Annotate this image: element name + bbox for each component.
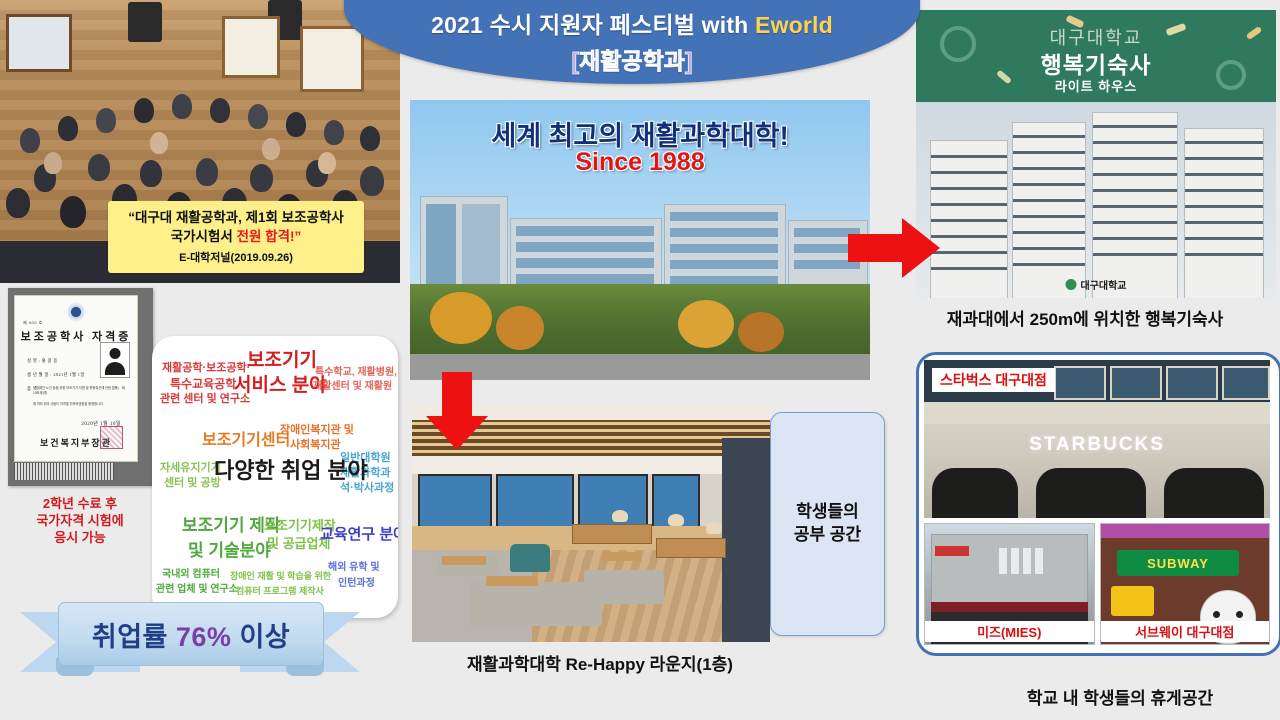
university-logo-text: 대구대학교 — [1081, 277, 1127, 292]
word-cloud-item: 재활센터 및 재활원 — [313, 381, 392, 393]
campus-glass — [516, 274, 654, 284]
word-cloud-item: 인턴과정 — [338, 578, 375, 590]
word-cloud-item: 교육연구 분야 — [320, 526, 398, 544]
campus-glass — [670, 260, 778, 269]
title-line-1: 2021 수시 지원자 페스티벌 with Eworld — [344, 6, 920, 40]
mies-awning — [931, 602, 1088, 612]
ribbon-body: 취업률 76% 이상 — [58, 602, 324, 666]
amenities-row: 미즈(MIES) SUBWAY 서브웨이 대구대점 — [924, 523, 1270, 645]
lounge-lamp — [706, 522, 722, 534]
starbucks-window — [1054, 366, 1106, 400]
lounge-window — [418, 474, 492, 530]
study-space-text: 학생들의 공부 공간 — [794, 501, 861, 547]
dormitory-sky: 대구대학교 — [916, 102, 1276, 298]
ribbon-percent: 76% — [176, 622, 232, 652]
lounge-armchair — [510, 544, 550, 572]
campus-glass — [670, 228, 778, 237]
ribbon-prefix: 취업률 — [92, 622, 176, 652]
campus-glass — [670, 212, 778, 221]
dormitory-tower — [1012, 122, 1086, 298]
mies-sign — [935, 546, 969, 556]
title-highlight-text: Eworld — [755, 12, 833, 38]
mies-window — [1035, 548, 1043, 574]
quote-source: E-대학저널(2019.09.26) — [179, 249, 293, 265]
quote-line-1: “대구대 재활공학과, 제1회 보조공학사 — [128, 209, 344, 227]
certificate-photo-placeholder — [100, 342, 130, 378]
word-cloud-item: 관련 업체 및 연구소 — [156, 584, 238, 596]
speaker-icon — [128, 2, 162, 42]
lounge-lamp — [668, 514, 684, 526]
subway-yellow-panel — [1111, 586, 1155, 616]
autumn-tree — [678, 300, 734, 348]
campus-glass — [516, 258, 654, 268]
lounge-sofa — [470, 582, 602, 626]
study-space-callout: 학생들의 공부 공간 — [770, 412, 885, 636]
word-cloud-item: 보조기기센터 — [202, 431, 290, 450]
autumn-tree — [496, 306, 544, 350]
subway-photo: SUBWAY 서브웨이 대구대점 — [1100, 523, 1271, 645]
word-cloud-item: 장애인 재활 및 학습을 위한 — [230, 571, 331, 582]
word-cloud-item: 센터 및 공방 — [164, 477, 221, 490]
slide-root: 2021 수시 지원자 페스티벌 with Eworld [재활공학과] “대구… — [0, 0, 1280, 720]
word-cloud-item: 국내외 컴퓨터 — [162, 569, 220, 581]
certificate-number: 제 000 호 — [23, 320, 43, 326]
certificate-name-row: 성 명 : 홍 길 동 — [27, 358, 58, 364]
lounge-window — [578, 474, 648, 530]
dormitory-caption: 재과대에서 250m에 위치한 행복기숙사 — [890, 305, 1280, 330]
word-cloud-item: 자세유지기기 — [160, 462, 221, 475]
autumn-tree — [738, 312, 784, 352]
starbucks-window — [1110, 366, 1162, 400]
dormitory-tower — [1184, 128, 1264, 298]
subway-caption: 서브웨이 대구대점 — [1101, 621, 1270, 642]
arrow-down-to-lounge-icon — [424, 372, 490, 450]
certificate-barcode — [14, 463, 114, 480]
campus-glass — [516, 242, 654, 252]
word-cloud-item: 특수학교, 재활병원, — [315, 367, 397, 379]
mies-window — [999, 548, 1007, 574]
title-line-2: [재활공학과] — [344, 42, 920, 76]
campus-glass — [670, 244, 778, 253]
mies-photo: 미즈(MIES) — [924, 523, 1095, 645]
career-word-cloud: 재활공학·보조공학·특수교육공학관련 센터 및 연구소보조기기서비스 분야특수학… — [152, 336, 398, 618]
lounge-window — [496, 474, 574, 530]
mies-window — [1011, 548, 1019, 574]
word-cloud-item: 및 기술분야 — [188, 541, 271, 561]
amenities-bottom-caption: 학교 내 학생들의 휴게공간 — [960, 684, 1280, 709]
starbucks-cornice — [924, 402, 1270, 424]
subway-awning-top — [1101, 524, 1270, 538]
government-emblem-icon — [66, 302, 86, 322]
mies-caption: 미즈(MIES) — [925, 621, 1094, 642]
dormitory-photo: 대구대학교 행복기숙사 라이트 하우스 대구대학교 — [916, 10, 1276, 298]
starbucks-label: 스타벅스 대구대점 — [932, 368, 1055, 392]
dormitory-subtitle: 라이트 하우스 — [916, 76, 1276, 95]
dormitory-tower — [930, 140, 1008, 298]
campus-photo: 세계 최고의 재활과학대학! Since 1988 — [410, 100, 870, 380]
ribbon-suffix: 이상 — [231, 622, 290, 652]
title-banner: 2021 수시 지원자 페스티벌 with Eworld [재활공학과] — [344, 0, 920, 84]
certificate-birth-row: 생 년 월 일 : 2021년 1월 1일 — [27, 372, 85, 378]
quote-line-2-highlight: 전원 합격!” — [237, 229, 302, 244]
starbucks-window — [1166, 366, 1218, 400]
certificate-image: 제 000 호 보조공학사 자격증 성 명 : 홍 길 동 생 년 월 일 : … — [8, 288, 153, 486]
word-cloud-item: 장애인복지관 및 — [280, 424, 354, 437]
certificate-body-text: 「장애인·노인 등을 위한 보조기기 지원 및 활용촉진에 관한 법률」 제19… — [33, 386, 125, 396]
mies-window — [1023, 548, 1031, 574]
lounge-lamp — [612, 510, 628, 522]
certificate-caption-line-1: 2학년 수료 후 — [0, 495, 160, 512]
arrow-right-to-dorm-icon — [848, 216, 940, 280]
lounge-side-table — [442, 556, 486, 565]
word-cloud-item: 특수교육공학 — [170, 377, 236, 391]
certificate-caption-line-2: 국가자격 시험에 — [0, 512, 160, 529]
lounge-side-table — [602, 552, 642, 561]
starbucks-window — [1222, 366, 1270, 400]
lounge-study-desk — [656, 538, 726, 558]
quote-line-2-prefix: 국가시험서 — [171, 229, 237, 244]
wall-picture — [6, 14, 72, 72]
lounge-dark-pillar — [722, 438, 770, 642]
title-main-text: 2021 수시 지원자 페스티벌 with — [431, 12, 755, 38]
lounge-study-desk — [572, 524, 652, 544]
study-space-line-2: 공부 공간 — [794, 524, 861, 547]
news-quote-box: “대구대 재활공학과, 제1회 보조공학사 국가시험서 전원 합격!” E-대학… — [108, 201, 364, 273]
starbucks-arch — [932, 468, 1018, 518]
certificate-body-text-2: 에 따라 위의 사람이 자격을 취득하였음을 증명합니다. — [33, 402, 125, 407]
lounge-caption: 재활과학대학 Re-Happy 라운지(1층) — [400, 650, 800, 675]
dormitory-name: 행복기숙사 — [916, 46, 1276, 80]
employment-rate-ribbon: 취업률 76% 이상 — [20, 600, 360, 684]
starbucks-sign-text: STARBUCKS — [924, 434, 1270, 456]
campus-glass — [516, 226, 654, 236]
starbucks-arch — [1164, 468, 1264, 518]
official-stamp-icon — [100, 426, 123, 449]
lounge-upper-wall — [412, 456, 770, 474]
quote-line-2: 국가시험서 전원 합격!” — [171, 228, 302, 246]
word-cloud-item: 보조기기 — [247, 350, 317, 373]
word-cloud-item: 다양한 취업 분야 — [214, 458, 368, 484]
dormitory-logo: 대구대학교 — [1066, 277, 1127, 292]
certificate-caption-line-3: 응시 가능 — [0, 529, 160, 546]
dormitory-banner: 대구대학교 행복기숙사 라이트 하우스 — [916, 10, 1276, 102]
word-cloud-item: 사회복지관 — [290, 439, 341, 452]
lounge-side-table — [486, 576, 538, 586]
word-cloud-item: 컴퓨터 프로그램 제작사 — [236, 586, 324, 597]
study-space-line-1: 학생들의 — [794, 501, 861, 524]
university-mark-icon — [1066, 279, 1077, 290]
certificate-document: 제 000 호 보조공학사 자격증 성 명 : 홍 길 동 생 년 월 일 : … — [14, 295, 138, 462]
amenities-panel: STARBUCKS 스타벅스 대구대점 미즈(MIES) — [916, 352, 1280, 656]
starbucks-photo: STARBUCKS 스타벅스 대구대점 — [924, 360, 1270, 518]
autumn-tree — [430, 292, 492, 344]
starbucks-arch — [1036, 468, 1146, 518]
certificate-caption: 2학년 수료 후 국가자격 시험에 응시 가능 — [0, 495, 160, 546]
dormitory-tower — [1092, 112, 1178, 298]
campus-since-text: Since 1988 — [410, 148, 870, 177]
lounge-sofa — [584, 570, 664, 604]
word-cloud-item: 재활공학·보조공학· — [162, 362, 250, 375]
word-cloud-item: 해외 유학 및 — [328, 562, 380, 574]
subway-sign-text: SUBWAY — [1117, 550, 1238, 576]
ribbon-text: 취업률 76% 이상 — [92, 615, 290, 654]
